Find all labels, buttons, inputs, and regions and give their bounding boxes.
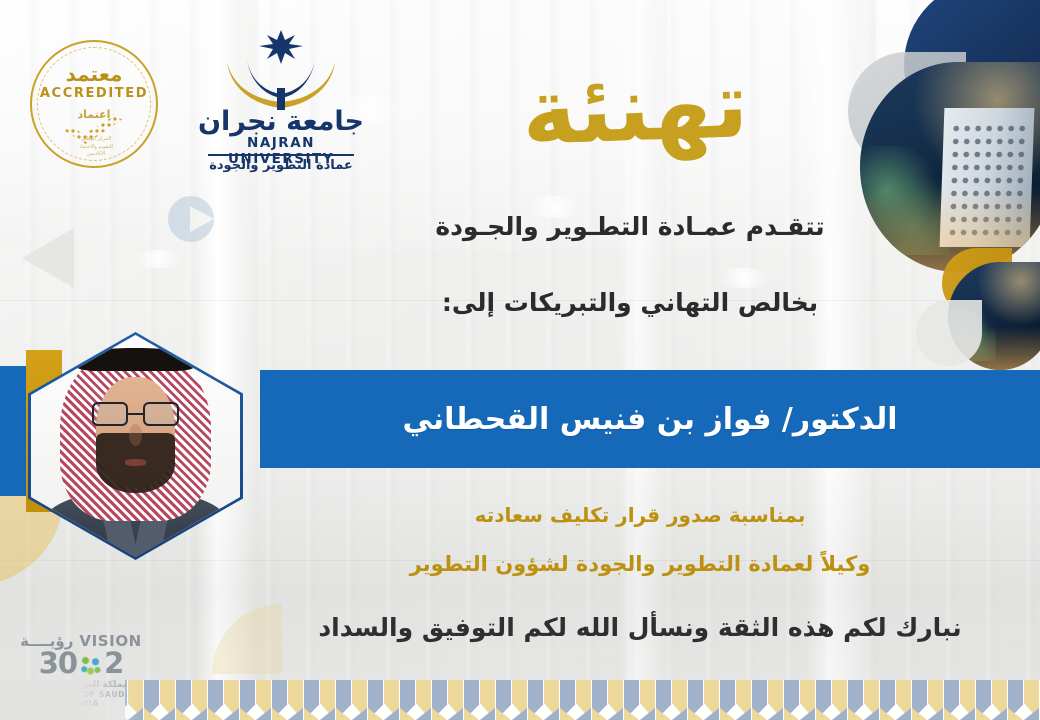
petal-light-gray [916,300,982,366]
pattern-unit [944,680,976,720]
university-name-arabic: جامعة نجران [196,106,366,137]
vision-year-left: 2 [104,650,123,678]
swoosh-icon [221,58,341,110]
portrait-mouth [125,459,146,466]
vision-top-row: VISION رؤيــــة [18,632,144,650]
pattern-unit [144,680,176,720]
pattern-unit [208,680,240,720]
deanship-name-arabic: عمادة التطوير والجودة [196,158,366,173]
congratulation-card: معتمد ACCREDITED اعتماد المركز الوطني لل… [0,0,1040,720]
honoree-photo-hexagon [28,332,243,560]
honoree-name: الدكتور/ فواز بن فنيس القحطاني [402,402,897,437]
najran-university-logo: جامعة نجران NAJRAN UNIVERSITY عمادة التط… [196,30,366,166]
pattern-unit [976,680,1008,720]
pattern-unit [176,680,208,720]
top-right-petal-decoration [810,0,1040,400]
ceiling-light-4 [128,250,188,268]
intro-line-1: تتقـدم عمـادة التطـوير والجـودة [350,212,910,241]
seal-english-label: ACCREDITED [30,86,158,101]
honoree-name-banner: الدكتور/ فواز بن فنيس القحطاني [260,370,1040,468]
pattern-unit [592,680,624,720]
pattern-unit [240,680,272,720]
pattern-unit [752,680,784,720]
pattern-unit [400,680,432,720]
occasion-line-2: وكيلاً لعمادة التطوير والجودة لشؤون التط… [320,552,960,576]
pattern-unit [720,680,752,720]
portrait-igal [77,348,194,370]
pattern-unit [816,680,848,720]
pattern-unit [688,680,720,720]
occasion-line-1: بمناسبة صدور قرار تكليف سعادته [320,503,960,527]
pattern-unit [304,680,336,720]
pattern-unit [272,680,304,720]
pattern-unit [656,680,688,720]
pattern-unit [560,680,592,720]
pattern-unit [784,680,816,720]
closing-line: نبارك لكم هذه الثقة ونسأل الله لكم التوف… [280,613,1000,642]
pattern-unit [880,680,912,720]
decorative-pacman-shape [168,196,214,242]
pattern-unit [464,680,496,720]
bottom-geometric-pattern [125,680,1040,720]
calligraphy-title: تهنئة [520,59,749,159]
honoree-portrait [31,335,240,557]
intro-line-2: بخالص التهاني والتبريكات إلى: [350,288,910,317]
seal-authority-line-1: المركز الوطني [48,136,144,144]
seal-authority-line-3: الأكاديمي [48,151,144,159]
pattern-unit [912,680,944,720]
pattern-unit [496,680,528,720]
calligraphy-title-area: تهنئة [470,34,800,184]
seal-authority-line-2: للتقويم والاعتماد [48,144,144,152]
portrait-glasses [92,402,180,426]
seal-authority-text: المركز الوطني للتقويم والاعتماد الأكاديم… [48,136,144,159]
vision-year: 2 30 [18,650,144,678]
bottom-pattern-fade [0,680,140,720]
logo-divider [208,154,354,156]
decorative-triangle-shape [22,228,74,288]
accreditation-seal: معتمد ACCREDITED اعتماد المركز الوطني لل… [30,40,158,168]
ceiling-light-3 [712,268,776,288]
portrait-nose [129,424,142,446]
vision-year-right: 30 [39,650,77,678]
pattern-unit [528,680,560,720]
vision-ring-icon [78,653,103,678]
pattern-unit [848,680,880,720]
pattern-unit [368,680,400,720]
seal-arabic-label: معتمد [30,62,158,86]
pattern-unit [336,680,368,720]
pattern-unit [624,680,656,720]
pattern-unit [1008,680,1040,720]
pattern-unit [432,680,464,720]
